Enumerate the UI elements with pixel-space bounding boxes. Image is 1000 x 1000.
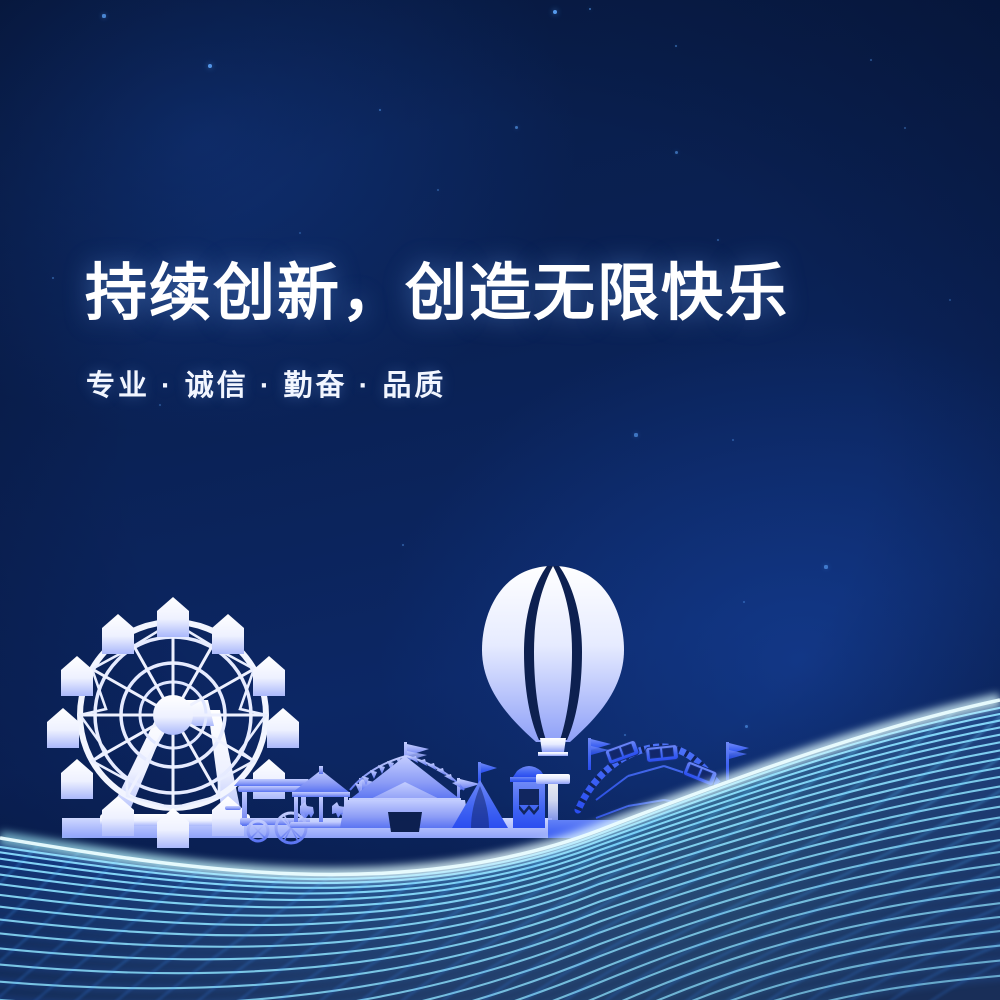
banner-canvas: 持续创新，创造无限快乐 专业 · 诚信 · 勤奋 · 品质 xyxy=(0,0,1000,1000)
wave-line-mesh xyxy=(0,0,1000,1000)
